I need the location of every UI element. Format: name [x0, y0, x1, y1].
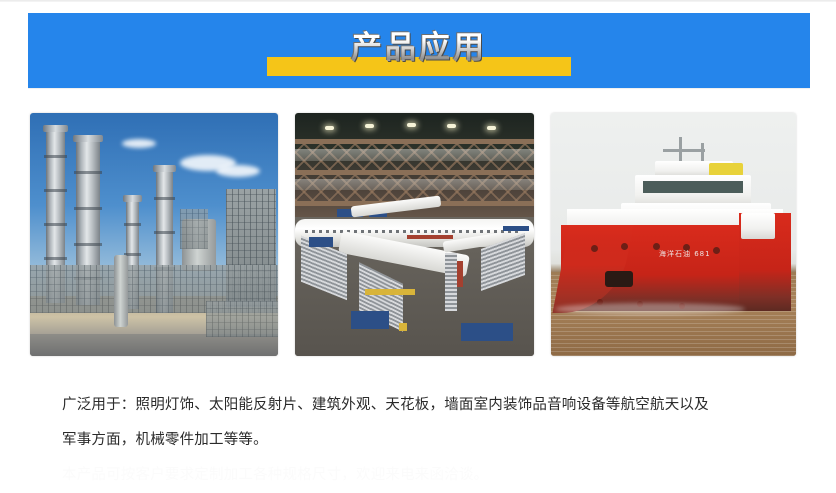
vessel-hull-marking: 海洋石油 681	[659, 249, 711, 259]
application-photo-gallery: 海洋石油 681	[0, 113, 836, 357]
vessel-illustration: 海洋石油 681	[551, 113, 796, 356]
banner-title-wrap: 产品应用	[259, 23, 579, 79]
description-line-2: 军事方面，机械零件加工等等。	[62, 423, 778, 458]
photo-petrochemical-refinery[interactable]	[30, 113, 278, 356]
description-block: 广泛用于：照明灯饰、太阳能反射片、建筑外观、天花板，墙面室内装饰品音响设备等航空…	[62, 388, 778, 493]
refinery-illustration	[30, 113, 278, 356]
photo-aircraft-assembly-hangar[interactable]	[295, 113, 534, 356]
description-line-3: 本产品可按客户要求定制加工各种规格尺寸，欢迎来电来函洽谈。	[62, 458, 778, 493]
description-line-1: 广泛用于：照明灯饰、太阳能反射片、建筑外观、天花板，墙面室内装饰品音响设备等航空…	[62, 388, 778, 423]
page-title: 产品应用	[259, 23, 579, 73]
hangar-illustration	[295, 113, 534, 356]
photo-offshore-supply-vessel[interactable]: 海洋石油 681	[551, 113, 796, 356]
section-banner: 产品应用	[28, 13, 810, 88]
banner-inner: 产品应用	[28, 13, 810, 88]
top-divider	[0, 0, 836, 2]
product-application-section: 产品应用	[0, 0, 836, 480]
